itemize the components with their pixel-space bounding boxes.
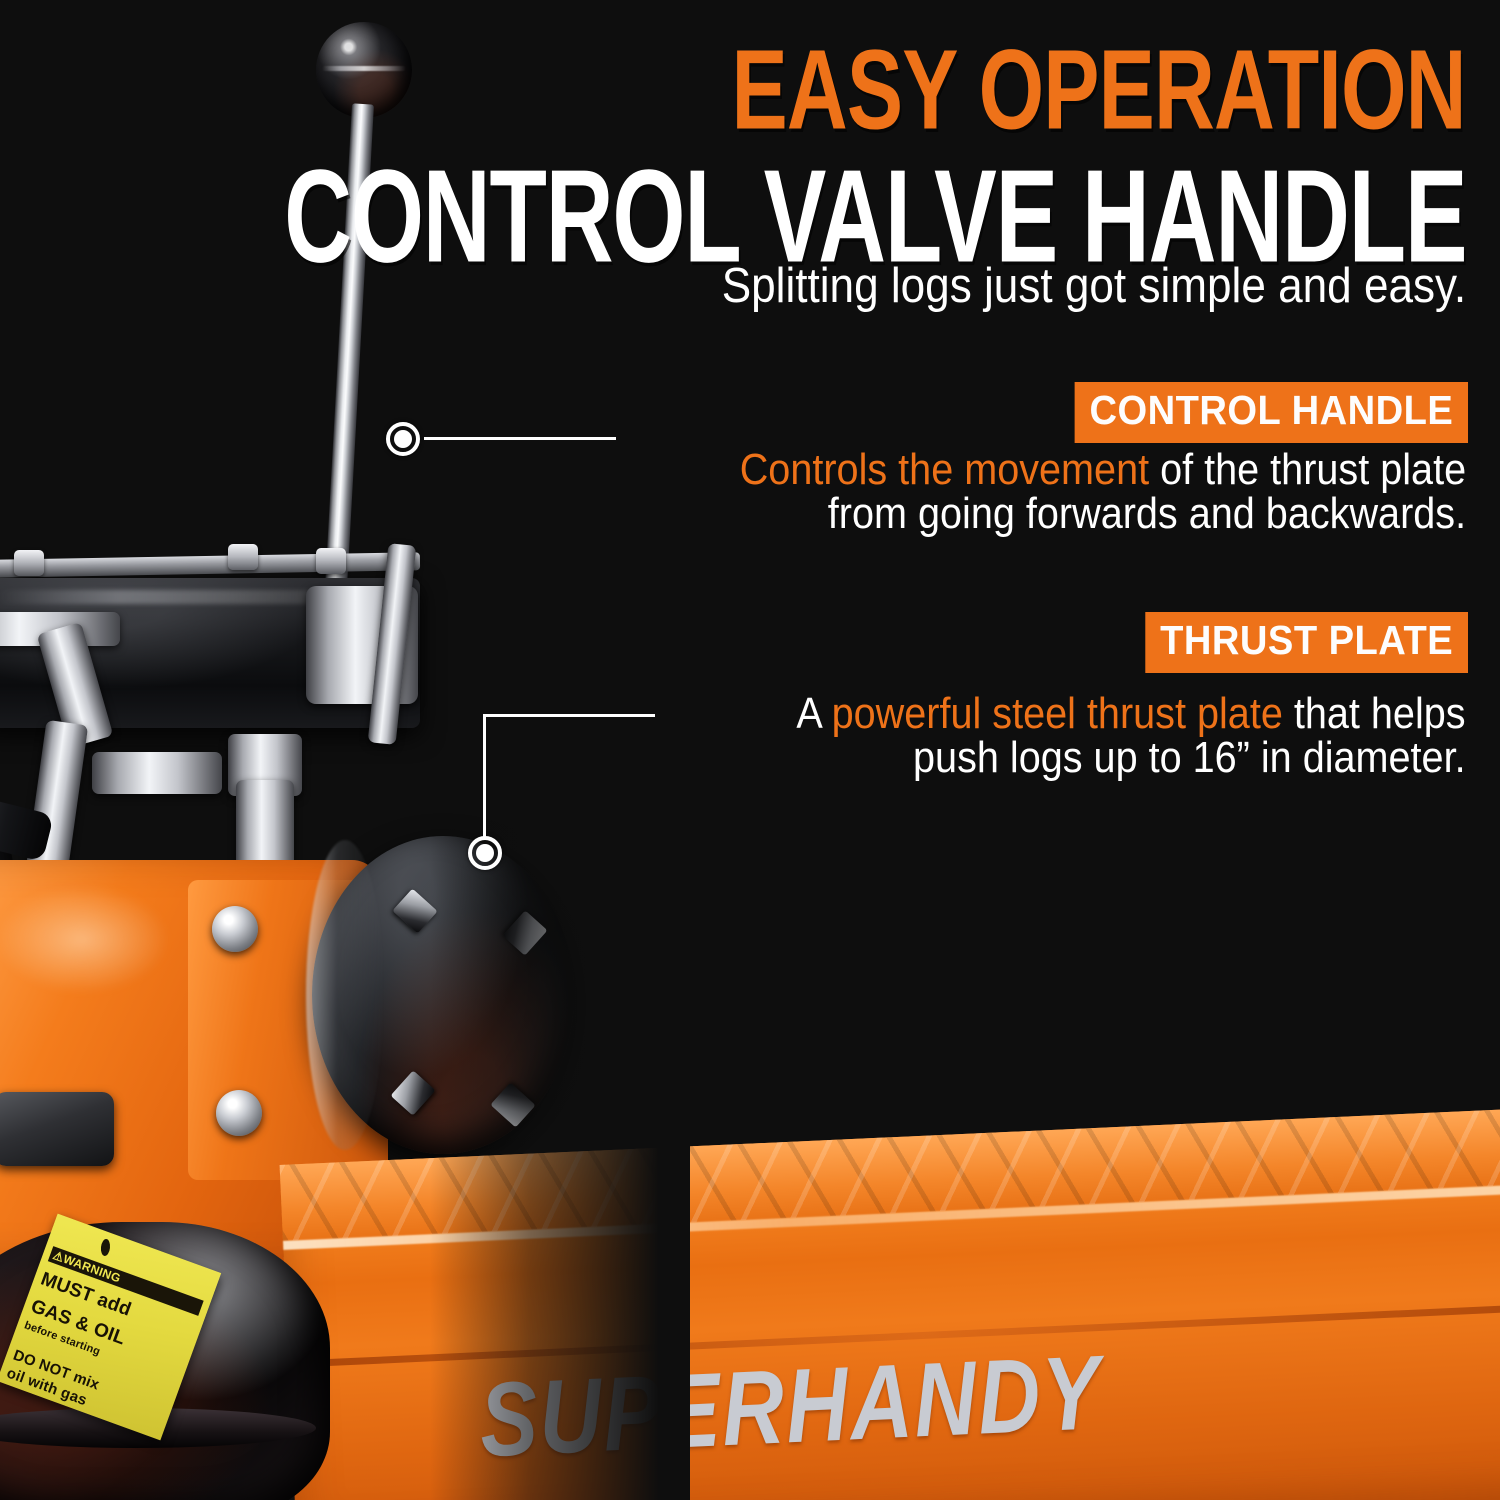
mount-bolt-mid [228, 544, 258, 570]
fuel-tank-cap [0, 1092, 114, 1166]
badge-thrust-plate: THRUST PLATE [1145, 612, 1468, 673]
callout-1-rest: of the thrust plate [1149, 445, 1466, 494]
callout-dot-control-handle [386, 422, 420, 456]
product-feature-graphic: SUPERHANDY ⚠WARNING MUST add GAS & OIL b… [0, 0, 1500, 1500]
callout-1-line2: from going forwards and backwards. [740, 492, 1466, 536]
callout-2-lead: A [797, 689, 832, 738]
callout-thrust-plate-copy: A powerful steel thrust plate that helps… [797, 692, 1466, 780]
eyebrow-heading: EASY OPERATION [732, 24, 1466, 155]
callout-line-thrust-horizontal [483, 714, 655, 717]
callout-control-handle-copy: Controls the movement of the thrust plat… [740, 448, 1466, 536]
callout-dot-thrust-plate [468, 836, 502, 870]
mount-bolt-left [14, 550, 44, 576]
callout-2-highlight: powerful steel thrust plate [832, 689, 1283, 738]
callout-1-highlight: Controls the movement [740, 445, 1149, 494]
badge-control-handle: CONTROL HANDLE [1074, 382, 1468, 443]
cylinder-bolt-bottom [216, 1090, 262, 1136]
callout-2-rest: that helps [1283, 689, 1466, 738]
mount-bolt-right [316, 548, 346, 574]
callout-line-thrust-vertical [483, 714, 486, 838]
thrust-plate-rim [306, 840, 384, 1150]
subtitle: Splitting logs just got simple and easy. [722, 258, 1466, 314]
tag-punch-hole [100, 1239, 111, 1257]
valve-port-left-lower [92, 752, 222, 794]
callout-2-line2: push logs up to 16” in diameter. [797, 736, 1466, 780]
cylinder-bolt-top [212, 906, 258, 952]
callout-line-control-handle [424, 437, 616, 440]
valve-mount-bar [0, 552, 420, 578]
